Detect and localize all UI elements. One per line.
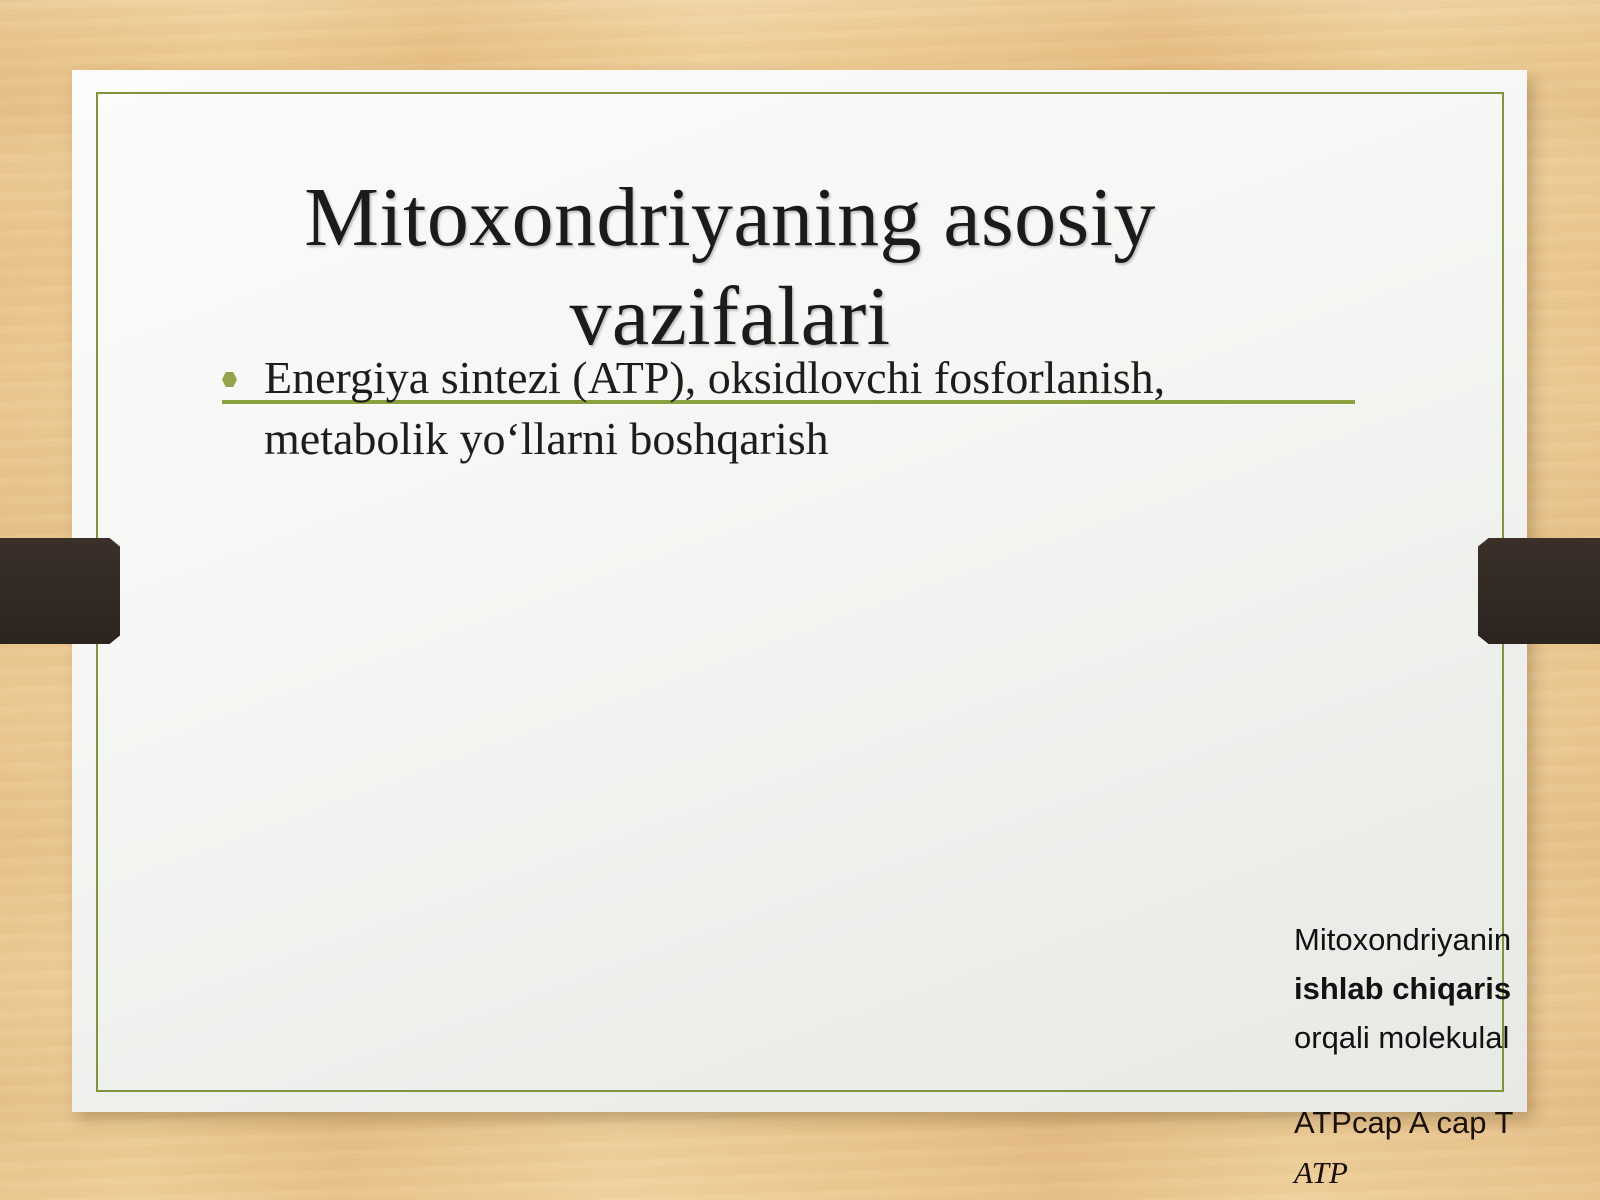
overflow-footer-line-2-italic: ATP [1294,1148,1600,1198]
bullet-hexagon-icon [222,372,237,387]
slide-bullet-list: Energiya sintezi (ATP), oksidlovchi fosf… [206,348,1206,469]
overflow-line-2-bold: ishlab chiqaris [1294,965,1600,1014]
overflow-footer-block: ATPcap A cap T ATP [1294,1098,1600,1198]
list-item: Energiya sintezi (ATP), oksidlovchi fosf… [206,348,1206,469]
slide-title: Mitoxondriyaning asosiy vazifalari [150,168,1310,366]
overflow-line-3: orqali molekulal [1294,1014,1600,1063]
overflow-footer-line-1: ATPcap A cap T [1294,1098,1600,1148]
binder-clip-left [0,538,120,644]
binder-clip-right [1478,538,1600,644]
bullet-text: Energiya sintezi (ATP), oksidlovchi fosf… [264,352,1165,464]
overflow-line-1: Mitoxondriyanin [1294,916,1600,965]
overflow-text-block: Mitoxondriyanin ishlab chiqaris orqali m… [1294,916,1600,1063]
